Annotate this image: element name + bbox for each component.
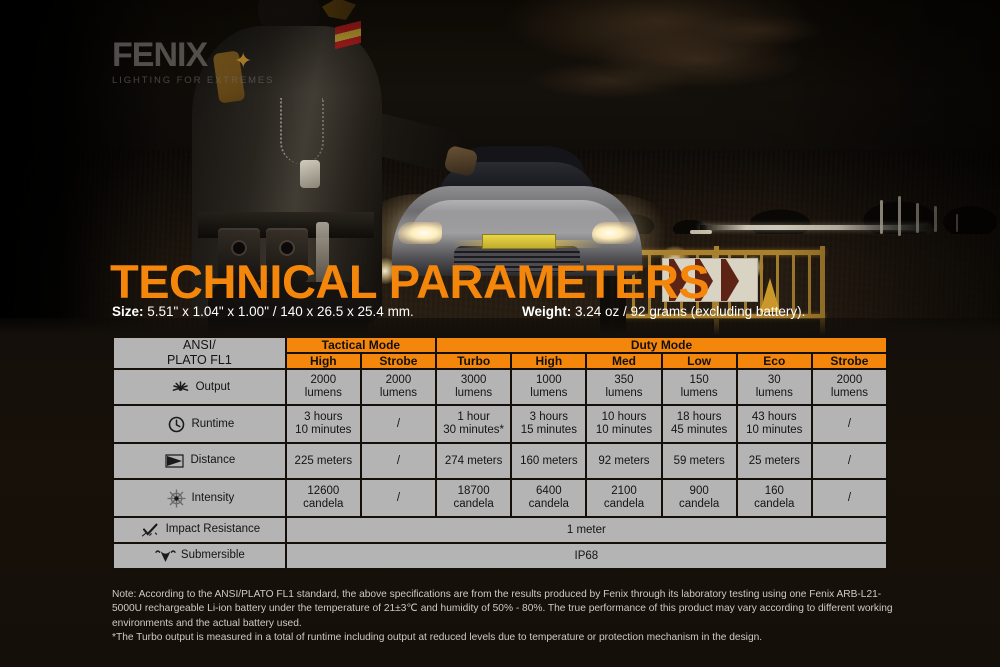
cell-runtime-duty-med: 10 hours10 minutes bbox=[587, 406, 660, 442]
mode-header-duty-high: High bbox=[512, 354, 585, 368]
cell-output-duty-low: 150lumens bbox=[663, 370, 736, 404]
note-line-1: Note: According to the ANSI/PLATO FL1 st… bbox=[112, 588, 894, 631]
row-label-text: Intensity bbox=[188, 492, 234, 506]
table-row: Submersible IP68 bbox=[114, 544, 886, 568]
clock-icon bbox=[164, 416, 188, 433]
group-header-duty-mode: Duty Mode bbox=[437, 338, 886, 352]
cell-distance-tactical-high: 225 meters bbox=[287, 444, 360, 478]
cell-intensity-tactical-high: 12600candela bbox=[287, 480, 360, 516]
mode-header-tactical-strobe: Strobe bbox=[362, 354, 435, 368]
impact-resistance-icon bbox=[139, 523, 163, 538]
table-group-header-row: ANSI/ PLATO FL1 Tactical Mode Duty Mode bbox=[114, 338, 886, 352]
mode-header-duty-med: Med bbox=[587, 354, 660, 368]
cell-distance-duty-turbo: 274 meters bbox=[437, 444, 510, 478]
mode-header-duty-turbo: Turbo bbox=[437, 354, 510, 368]
crosshair-intensity-icon bbox=[164, 489, 188, 508]
cell-output-duty-med: 350lumens bbox=[587, 370, 660, 404]
star-spark-icon: ✦ bbox=[234, 48, 252, 74]
size-label: Size: bbox=[112, 304, 144, 319]
cell-distance-duty-low: 59 meters bbox=[663, 444, 736, 478]
size-value: 5.51" x 1.04" x 1.00" / 140 x 26.5 x 25.… bbox=[147, 304, 414, 319]
cell-output-tactical-high: 2000lumens bbox=[287, 370, 360, 404]
cell-intensity-duty-strobe: / bbox=[813, 480, 886, 516]
row-label-intensity: Intensity bbox=[114, 480, 285, 516]
ansi-plato-corner-cell: ANSI/ PLATO FL1 bbox=[114, 338, 285, 368]
row-label-submersible: Submersible bbox=[114, 544, 285, 568]
row-label-impact-resistance: Impact Resistance bbox=[114, 518, 285, 542]
cell-intensity-duty-high: 6400candela bbox=[512, 480, 585, 516]
cell-runtime-duty-low: 18 hours45 minutes bbox=[663, 406, 736, 442]
row-label-text: Distance bbox=[187, 454, 235, 468]
cell-runtime-tactical-high: 3 hours10 minutes bbox=[287, 406, 360, 442]
cell-output-duty-strobe: 2000lumens bbox=[813, 370, 886, 404]
footnotes: Note: According to the ANSI/PLATO FL1 st… bbox=[112, 588, 894, 646]
cell-runtime-tactical-strobe: / bbox=[362, 406, 435, 442]
cell-runtime-duty-strobe: / bbox=[813, 406, 886, 442]
brand-tagline: LIGHTING FOR EXTREMES bbox=[112, 75, 292, 86]
water-drop-icon bbox=[154, 549, 178, 563]
row-label-runtime: Runtime bbox=[114, 406, 285, 442]
mode-header-duty-strobe: Strobe bbox=[813, 354, 886, 368]
table-row: Intensity 12600candela / 18700candela 64… bbox=[114, 480, 886, 516]
cell-submersible-value: IP68 bbox=[287, 544, 886, 568]
cell-intensity-duty-low: 900candela bbox=[663, 480, 736, 516]
mode-header-duty-eco: Eco bbox=[738, 354, 811, 368]
cell-impact-resistance-value: 1 meter bbox=[287, 518, 886, 542]
beam-distance-icon bbox=[163, 454, 187, 468]
weight-label: Weight: bbox=[522, 304, 571, 319]
cell-output-duty-high: 1000lumens bbox=[512, 370, 585, 404]
size-weight-line: Size: 5.51" x 1.04" x 1.00" / 140 x 26.5… bbox=[112, 304, 892, 320]
cell-runtime-duty-eco: 43 hours10 minutes bbox=[738, 406, 811, 442]
cell-output-duty-eco: 30lumens bbox=[738, 370, 811, 404]
mode-header-duty-low: Low bbox=[663, 354, 736, 368]
cell-intensity-duty-turbo: 18700candela bbox=[437, 480, 510, 516]
cell-runtime-duty-high: 3 hours15 minutes bbox=[512, 406, 585, 442]
ansi-label-line1: ANSI/ bbox=[183, 338, 216, 352]
cell-output-tactical-strobe: 2000lumens bbox=[362, 370, 435, 404]
cell-distance-tactical-strobe: / bbox=[362, 444, 435, 478]
table-row: Output 2000lumens 2000lumens 3000lumens … bbox=[114, 370, 886, 404]
row-label-text: Runtime bbox=[188, 418, 234, 432]
ansi-label-line2: PLATO FL1 bbox=[167, 353, 232, 367]
cell-intensity-duty-eco: 160candela bbox=[738, 480, 811, 516]
cell-runtime-duty-turbo: 1 hour30 minutes* bbox=[437, 406, 510, 442]
cell-distance-duty-strobe: / bbox=[813, 444, 886, 478]
weight-spec: Weight: 3.24 oz / 92 grams (excluding ba… bbox=[522, 304, 805, 320]
cell-intensity-duty-med: 2100candela bbox=[587, 480, 660, 516]
table-row: Distance 225 meters / 274 meters 160 met… bbox=[114, 444, 886, 478]
light-burst-icon bbox=[169, 379, 193, 395]
row-label-text: Impact Resistance bbox=[163, 523, 261, 537]
mode-header-tactical-high: High bbox=[287, 354, 360, 368]
cell-intensity-tactical-strobe: / bbox=[362, 480, 435, 516]
brand-name: FENIX bbox=[112, 38, 292, 72]
size-spec: Size: 5.51" x 1.04" x 1.00" / 140 x 26.5… bbox=[112, 304, 522, 320]
page-title: TECHNICAL PARAMETERS bbox=[110, 258, 709, 305]
fenix-logo: FENIX ✦ LIGHTING FOR EXTREMES bbox=[112, 38, 292, 86]
weight-value: 3.24 oz / 92 grams (excluding battery). bbox=[575, 304, 805, 319]
cell-distance-duty-high: 160 meters bbox=[512, 444, 585, 478]
group-header-tactical-mode: Tactical Mode bbox=[287, 338, 435, 352]
note-line-2: *The Turbo output is measured in a total… bbox=[112, 631, 894, 645]
technical-parameters-table: ANSI/ PLATO FL1 Tactical Mode Duty Mode … bbox=[112, 336, 888, 570]
cell-distance-duty-eco: 25 meters bbox=[738, 444, 811, 478]
product-spec-page: FENIX ✦ LIGHTING FOR EXTREMES TECHNICAL … bbox=[0, 0, 1000, 667]
table-row: Impact Resistance 1 meter bbox=[114, 518, 886, 542]
row-label-text: Submersible bbox=[178, 549, 245, 563]
row-label-distance: Distance bbox=[114, 444, 285, 478]
cell-distance-duty-med: 92 meters bbox=[587, 444, 660, 478]
row-label-output: Output bbox=[114, 370, 285, 404]
cell-output-duty-turbo: 3000lumens bbox=[437, 370, 510, 404]
table-row: Runtime 3 hours10 minutes / 1 hour30 min… bbox=[114, 406, 886, 442]
row-label-text: Output bbox=[193, 381, 231, 395]
